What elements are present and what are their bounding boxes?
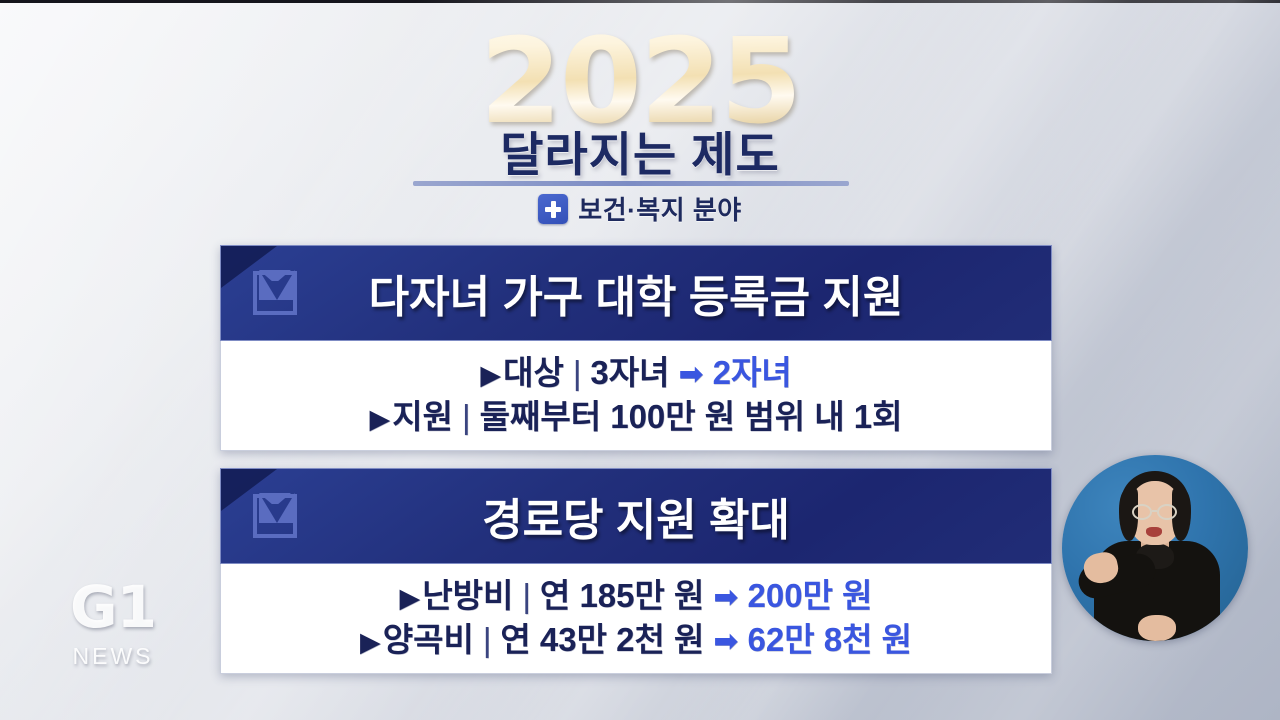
card-title: 경로당 지원 확대 bbox=[297, 484, 975, 548]
row-old-value: 둘째부터 100만 원 범위 내 1회 bbox=[480, 395, 903, 439]
checkbox-check-icon bbox=[253, 271, 297, 315]
detail-row: ▶ 난방비 | 연 185만 원 ➡ 200만 원 bbox=[221, 574, 1051, 618]
arrow-right-icon: ➡ bbox=[713, 622, 738, 662]
arrow-right-icon: ➡ bbox=[678, 355, 703, 395]
card-body: ▶ 난방비 | 연 185만 원 ➡ 200만 원 ▶ 양곡비 | 연 43만 … bbox=[220, 564, 1052, 674]
subtitle-label: 보건·복지 분야 bbox=[578, 190, 741, 227]
title-block: 2025 달라지는 제도 보건·복지 분야 bbox=[0, 8, 1280, 228]
interpreter-mouth bbox=[1146, 527, 1162, 537]
interpreter-hand-lower bbox=[1138, 615, 1176, 641]
interpreter-figure bbox=[1062, 455, 1248, 641]
row-separator: | bbox=[522, 574, 531, 618]
checkbox-check-icon bbox=[253, 494, 297, 538]
glasses-icon bbox=[1157, 504, 1177, 520]
card-body: ▶ 대상 | 3자녀 ➡ 2자녀 ▶ 지원 | 둘째부터 100만 원 범위 내… bbox=[220, 341, 1052, 451]
row-separator: | bbox=[462, 395, 471, 439]
bullet-icon: ▶ bbox=[370, 402, 391, 438]
detail-row: ▶ 양곡비 | 연 43만 2천 원 ➡ 62만 8천 원 bbox=[221, 618, 1051, 662]
detail-row: ▶ 대상 | 3자녀 ➡ 2자녀 bbox=[221, 351, 1051, 395]
bullet-icon: ▶ bbox=[399, 581, 420, 617]
bullet-icon: ▶ bbox=[480, 358, 501, 394]
row-old-value: 연 185만 원 bbox=[540, 574, 704, 618]
row-new-value: 200만 원 bbox=[748, 574, 873, 618]
logo-text: NEWS bbox=[38, 643, 188, 670]
info-card: 다자녀 가구 대학 등록금 지원 ▶ 대상 | 3자녀 ➡ 2자녀 ▶ 지원 |… bbox=[220, 245, 1052, 451]
row-old-value: 연 43만 2천 원 bbox=[500, 618, 704, 662]
card-title: 다자녀 가구 대학 등록금 지원 bbox=[297, 261, 975, 325]
glasses-icon bbox=[1132, 504, 1152, 520]
row-label: 양곡비 bbox=[383, 618, 474, 662]
row-separator: | bbox=[573, 351, 582, 395]
detail-row: ▶ 지원 | 둘째부터 100만 원 범위 내 1회 bbox=[221, 395, 1051, 439]
glasses-bridge bbox=[1152, 510, 1157, 512]
channel-logo: G1 NEWS bbox=[38, 578, 188, 670]
card-header: 다자녀 가구 대학 등록금 지원 bbox=[220, 245, 1052, 341]
top-letterbox-bar bbox=[0, 0, 1280, 3]
bullet-icon: ▶ bbox=[360, 625, 381, 661]
row-label: 난방비 bbox=[422, 574, 513, 618]
info-card: 경로당 지원 확대 ▶ 난방비 | 연 185만 원 ➡ 200만 원 ▶ 양곡… bbox=[220, 468, 1052, 674]
row-new-value: 62만 8천 원 bbox=[748, 618, 912, 662]
card-header: 경로당 지원 확대 bbox=[220, 468, 1052, 564]
subtitle-row: 보건·복지 분야 bbox=[0, 190, 1280, 227]
row-old-value: 3자녀 bbox=[590, 351, 669, 395]
sign-language-interpreter-video bbox=[1062, 455, 1248, 641]
arrow-right-icon: ➡ bbox=[713, 578, 738, 618]
row-separator: | bbox=[483, 618, 492, 662]
broadcast-graphic: 2025 달라지는 제도 보건·복지 분야 다자녀 가구 대학 등록금 지원 ▶… bbox=[0, 0, 1280, 720]
page-title: 달라지는 제도 bbox=[0, 116, 1280, 185]
row-label: 지원 bbox=[392, 395, 453, 439]
row-new-value: 2자녀 bbox=[713, 351, 792, 395]
plus-icon bbox=[538, 194, 568, 224]
row-label: 대상 bbox=[503, 351, 564, 395]
logo-mark: G1 bbox=[38, 578, 188, 636]
title-divider bbox=[413, 181, 849, 186]
